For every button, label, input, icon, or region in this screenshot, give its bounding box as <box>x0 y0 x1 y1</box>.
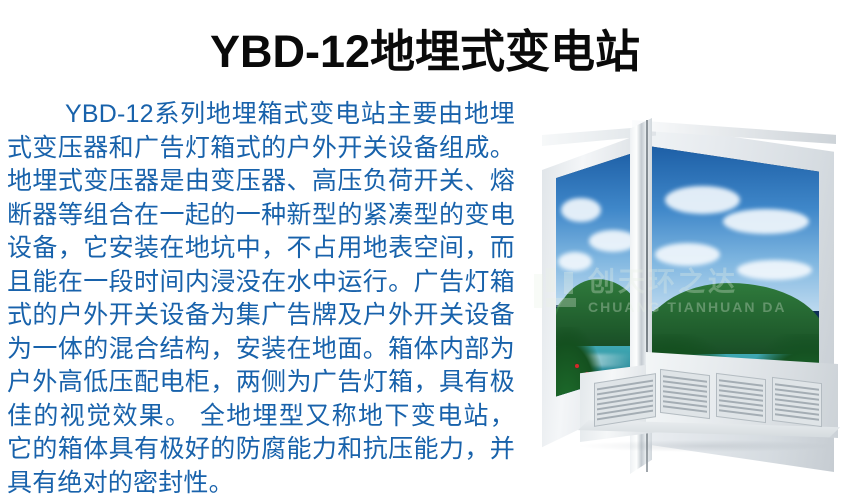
cloud-icon <box>655 243 720 266</box>
product-photo: 创天环之达 CHUANG TIANHUAN DA <box>520 104 845 444</box>
product-drop-shadow <box>580 440 832 452</box>
cloud-icon <box>589 230 637 251</box>
page-title: YBD-12地埋式变电站 <box>0 26 850 78</box>
ventilation-louvre-right-3 <box>772 377 822 427</box>
cloud-icon <box>561 198 601 222</box>
ventilation-louvre-right-2 <box>716 373 766 423</box>
ventilation-louvre-right-1 <box>660 369 710 419</box>
product-detail-page: YBD-12地埋式变电站 YBD-12系列地埋箱式变电站主要由地埋式变压器和广告… <box>0 0 850 503</box>
product-illustration: 创天环之达 CHUANG TIANHUAN DA <box>520 104 845 444</box>
cloud-icon <box>558 252 592 271</box>
cloud-icon <box>737 260 812 280</box>
cloud-icon <box>723 209 809 235</box>
product-description-paragraph: YBD-12系列地埋箱式变电站主要由地埋式变压器和广告灯箱式的户外开关设备组成。… <box>7 98 515 500</box>
